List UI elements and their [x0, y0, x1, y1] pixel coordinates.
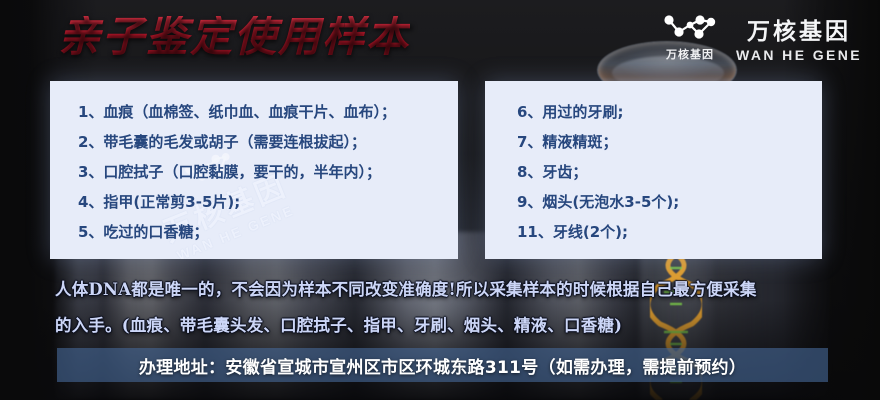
address-banner: 办理地址：安徽省宣城市宣州区市区环城东路311号（如需办理，需提前预约） [57, 348, 828, 382]
page-title: 亲子鉴定使用样本 [58, 16, 410, 58]
list-item: 2、带毛囊的毛发或胡子（需要连根拔起）； [78, 127, 458, 157]
list-item: 6、用过的牙刷; [517, 97, 822, 127]
sample-list-left: 1、血痕（血棉签、纸巾血、血痕干片、血布）； 2、带毛囊的毛发或胡子（需要连根拔… [50, 81, 458, 247]
list-item: 4、指甲(正常剪3-5片); [78, 187, 458, 217]
list-item: 7、精液精斑； [517, 127, 822, 157]
brand-wordmark: 万核基因 WAN HE GENE [736, 12, 862, 63]
list-item: 3、口腔拭子（口腔黏膜，要干的，半年内）； [78, 157, 458, 187]
poster-canvas: 亲子鉴定使用样本 [0, 0, 880, 400]
brand-name-en: WAN HE GENE [736, 47, 862, 63]
brand-mark: 万核基因 [662, 14, 718, 62]
note-line-1: 人体DNA都是唯一的，不会因为样本不同改变准确度!所以采集样本的时候根据自己最方… [55, 272, 830, 308]
list-item: 9、烟头(无泡水3-5个); [517, 187, 822, 217]
sample-panel-right: 万核基因 WAN HE GENE 6、用过的牙刷; 7、精液精斑； 8、牙齿； … [485, 81, 822, 259]
note-paragraph: 人体DNA都是唯一的，不会因为样本不同改变准确度!所以采集样本的时候根据自己最方… [55, 272, 830, 344]
address-text: 办理地址：安徽省宣城市宣州区市区环城东路311号（如需办理，需提前预约） [139, 353, 746, 378]
molecule-icon [662, 14, 718, 44]
list-item: 5、吃过的口香糖； [78, 217, 458, 247]
sample-list-right: 6、用过的牙刷; 7、精液精斑； 8、牙齿； 9、烟头(无泡水3-5个); 11… [485, 81, 822, 247]
sample-panel-left: 万核基因 WAN HE GENE 1、血痕（血棉签、纸巾血、血痕干片、血布）； … [50, 81, 458, 259]
list-item: 11、牙线(2个); [517, 217, 822, 247]
brand-mark-caption: 万核基因 [666, 46, 714, 62]
brand-name-cn: 万核基因 [747, 12, 851, 46]
list-item: 1、血痕（血棉签、纸巾血、血痕干片、血布）； [78, 97, 458, 127]
brand-lockup: 万核基因 万核基因 WAN HE GENE [662, 12, 862, 63]
note-line-2: 的入手。(血痕、带毛囊头发、口腔拭子、指甲、牙刷、烟头、精液、口香糖) [55, 308, 830, 344]
list-item: 8、牙齿； [517, 157, 822, 187]
